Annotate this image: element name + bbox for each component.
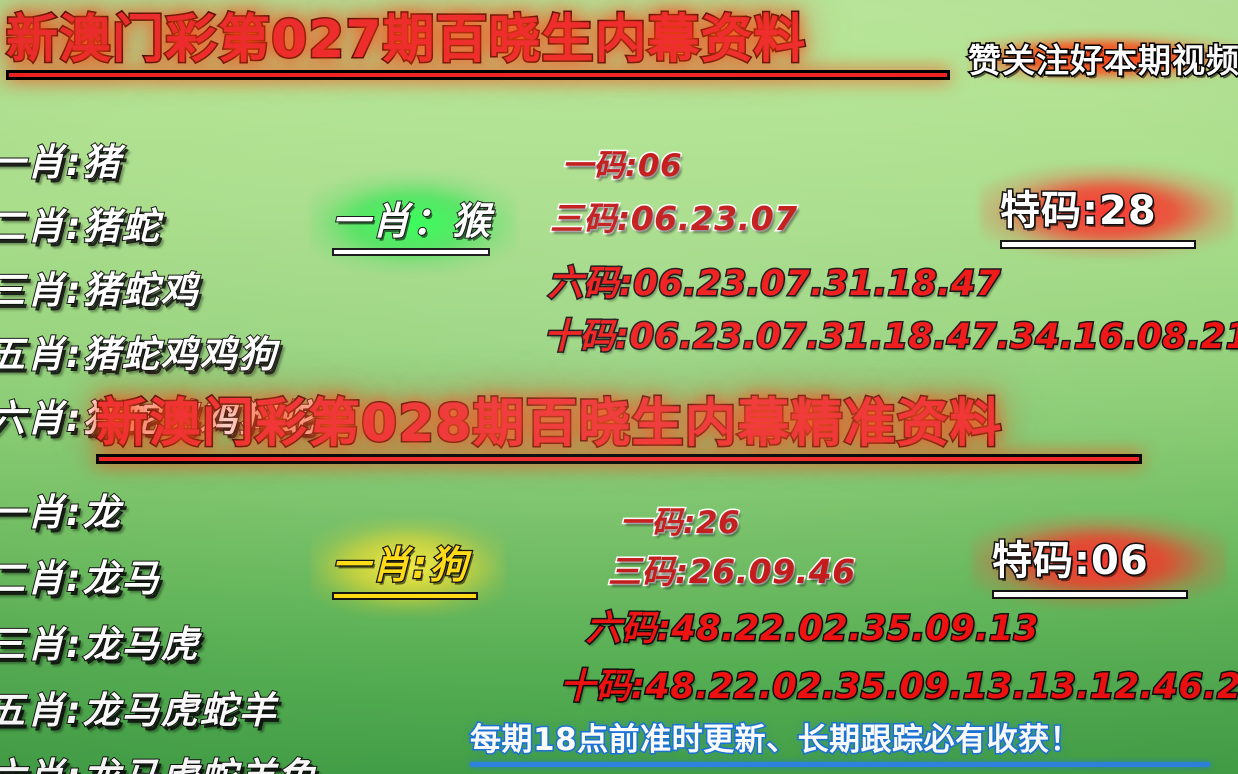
section1-three-code: 三码:06.23.07	[550, 192, 798, 240]
section2-special-underline	[992, 590, 1188, 599]
zodiac-row: 一肖:龙	[0, 482, 317, 536]
section1-pick-text: 一肖：猴	[332, 190, 494, 245]
section2-special-code-badge: 特码:06	[992, 528, 1212, 599]
section1-six-code: 六码:06.23.07.31.18.47	[548, 255, 1001, 306]
zodiac-row: 三肖:龙马虎	[0, 614, 317, 668]
section2-six-code: 六码:48.22.02.35.09.13	[586, 600, 1039, 651]
zodiac-row: 二肖:龙马	[0, 548, 317, 602]
footer-notice-banner: 每期18点前准时更新、长期跟踪必有收获！	[470, 714, 1238, 767]
promo-badge: 赞关注好本期视频	[968, 30, 1238, 86]
section1-special-code-badge: 特码:28	[1000, 178, 1220, 249]
section1-special-underline	[1000, 240, 1196, 249]
section2-zodiac-list: 一肖:龙 二肖:龙马 三肖:龙马虎 五肖:龙马虎蛇羊 六肖:龙马虎蛇羊兔	[0, 482, 317, 774]
section1-one-code: 一码:06	[562, 140, 682, 185]
section2-one-code: 一码:26	[620, 497, 740, 542]
section2-headline-underline	[96, 454, 1142, 464]
promo-text: 赞关注好本期视频	[968, 34, 1238, 82]
section2-three-code: 三码:26.09.46	[608, 545, 856, 593]
footer-notice-underline	[470, 762, 1210, 767]
section1-headline-text: 新澳门彩第027期百晓生内幕资料	[6, 14, 950, 66]
section1-ten-code: 十码:06.23.07.31.18.47.34.16.08.21	[544, 308, 1238, 359]
section2-headline-text: 新澳门彩第028期百晓生内幕精准资料	[96, 398, 1142, 450]
section1-headline-underline	[6, 70, 950, 80]
zodiac-row: 三肖:猪蛇鸡	[0, 260, 317, 314]
zodiac-row: 六肖:龙马虎蛇羊兔	[0, 746, 317, 774]
lottery-poster: 新澳门彩第027期百晓生内幕资料 赞关注好本期视频 一肖:猪 二肖:猪蛇 三肖:…	[0, 0, 1238, 774]
section1-pick-badge: 一肖：猴	[332, 190, 494, 256]
section1-headline-banner: 新澳门彩第027期百晓生内幕资料	[6, 14, 950, 80]
section2-headline-banner: 新澳门彩第028期百晓生内幕精准资料	[96, 398, 1142, 464]
section2-pick-badge: 一肖:狗	[332, 534, 484, 600]
footer-notice-text: 每期18点前准时更新、长期跟踪必有收获！	[470, 714, 1238, 759]
zodiac-row: 五肖:龙马虎蛇羊	[0, 680, 317, 734]
section2-pick-text: 一肖:狗	[332, 534, 484, 589]
zodiac-row: 一肖:猪	[0, 132, 317, 186]
zodiac-row: 二肖:猪蛇	[0, 196, 317, 250]
zodiac-row: 五肖:猪蛇鸡鸡狗	[0, 324, 317, 378]
section2-special-code-text: 特码:06	[992, 528, 1212, 586]
section1-pick-underline	[332, 248, 490, 256]
section2-pick-underline	[332, 592, 478, 600]
section1-special-code-text: 特码:28	[1000, 178, 1220, 236]
section2-ten-code: 十码:48.22.02.35.09.13.13.12.46.26.03	[560, 658, 1238, 709]
